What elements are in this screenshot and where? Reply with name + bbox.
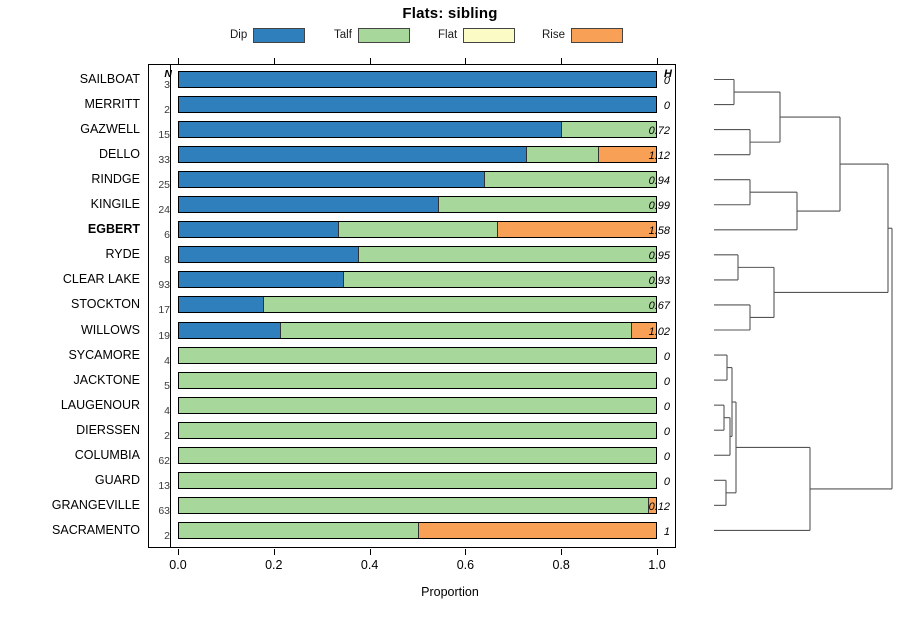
x-tick-label: 0.2 xyxy=(254,558,294,572)
x-tick-mark-top xyxy=(465,58,466,64)
x-tick-mark xyxy=(465,549,466,555)
x-tick-mark xyxy=(178,549,179,555)
dendrogram xyxy=(692,64,897,548)
x-tick-label: 0.8 xyxy=(541,558,581,572)
x-tick-label: 1.0 xyxy=(637,558,677,572)
x-tick-mark-top xyxy=(657,58,658,64)
x-tick-mark-top xyxy=(178,58,179,64)
x-tick-label: 0.6 xyxy=(445,558,485,572)
x-axis-title: Proportion xyxy=(0,585,900,599)
x-tick-label: 0.0 xyxy=(158,558,198,572)
x-tick-mark-top xyxy=(274,58,275,64)
chart-canvas: Flats: sibling DipTalfFlatRise NHSAILBOA… xyxy=(0,0,900,620)
x-tick-mark xyxy=(657,549,658,555)
x-tick-mark-top xyxy=(370,58,371,64)
x-tick-label: 0.4 xyxy=(350,558,390,572)
x-tick-mark xyxy=(274,549,275,555)
x-tick-mark xyxy=(561,549,562,555)
x-tick-mark-top xyxy=(561,58,562,64)
x-tick-mark xyxy=(370,549,371,555)
